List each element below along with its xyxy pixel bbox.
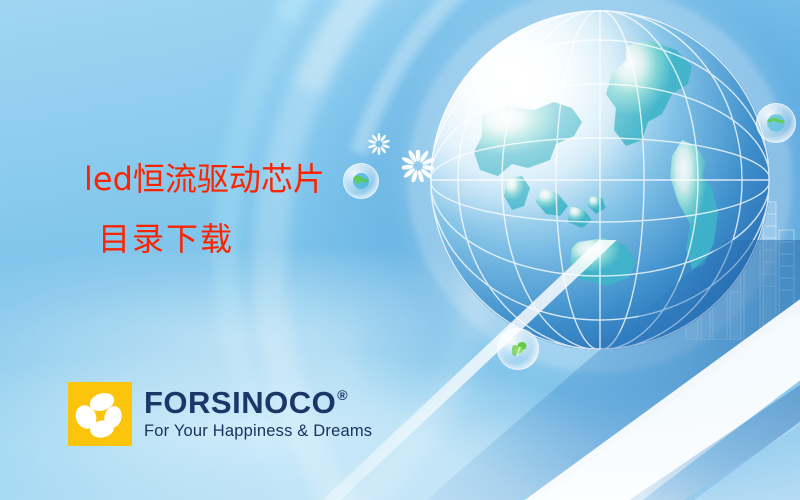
brand-wordmark: FORSINOCO ®	[144, 387, 372, 418]
diagonal-light-ribbons	[320, 240, 800, 500]
headline-block: led恒流驱动芯片 目录下载	[84, 163, 464, 255]
bubble-edge-right-icon	[756, 103, 796, 143]
headline-line-1: led恒流驱动芯片	[84, 163, 464, 195]
background-wave-right	[360, 300, 800, 500]
bubble-with-sprout-icon	[497, 328, 539, 370]
promo-banner: led恒流驱动芯片 目录下载 FORSINOCO ® For Your Happ…	[0, 0, 800, 500]
logo-text-block: FORSINOCO ® For Your Happiness & Dreams	[144, 387, 372, 441]
brand-name: FORSINOCO	[144, 387, 336, 418]
background-wave-mid	[0, 250, 800, 500]
city-skyline-silhouette	[680, 180, 800, 340]
registered-trademark-symbol: ®	[337, 388, 348, 402]
four-petal-pinwheel-icon	[68, 382, 132, 446]
brand-tagline: For Your Happiness & Dreams	[144, 422, 372, 441]
headline-line-2: 目录下载	[84, 223, 464, 255]
earth-globe-icon	[430, 10, 770, 350]
globe-halo	[408, 0, 792, 372]
company-logo: FORSINOCO ® For Your Happiness & Dreams	[68, 382, 372, 446]
white-flower-small-icon	[368, 133, 390, 160]
